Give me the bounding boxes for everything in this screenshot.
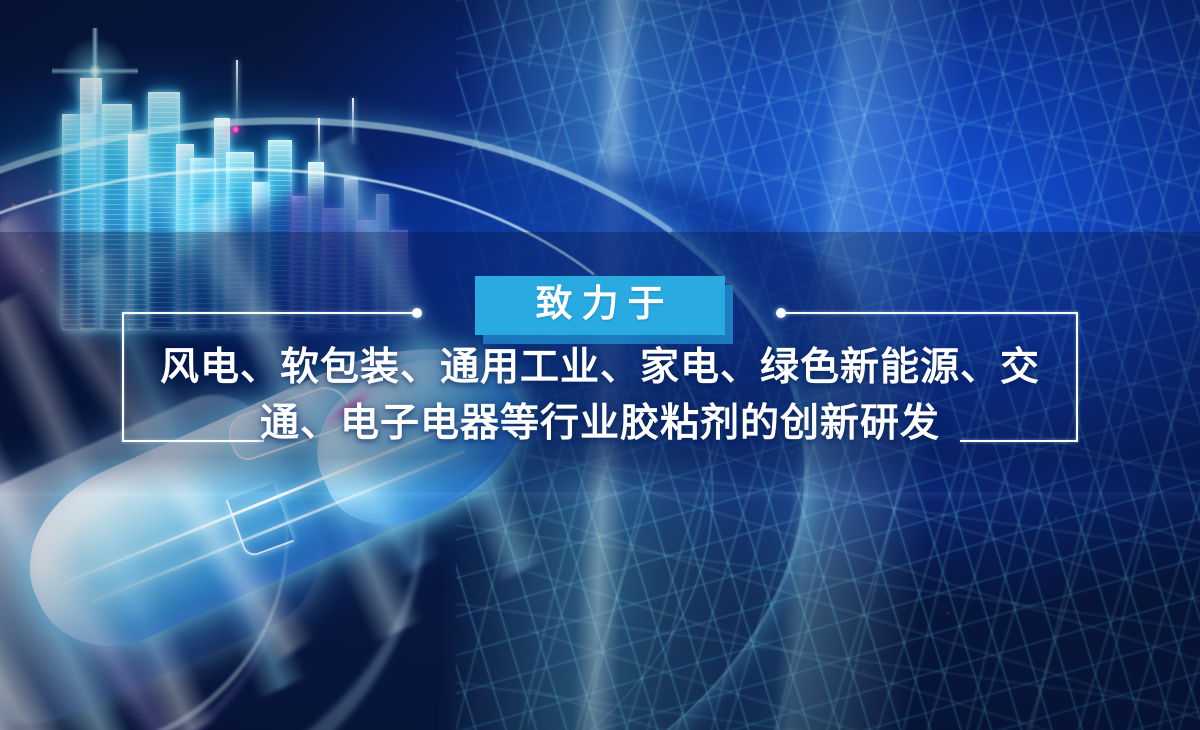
hero-banner: 致力于 风电、软包装、通用工业、家电、绿色新能源、交 通、电子电器等行业胶粘剂的…	[0, 0, 1200, 730]
light-flare-icon	[52, 28, 138, 114]
badge[interactable]: 致力于	[475, 276, 725, 335]
badge-label: 致力于	[475, 276, 725, 335]
